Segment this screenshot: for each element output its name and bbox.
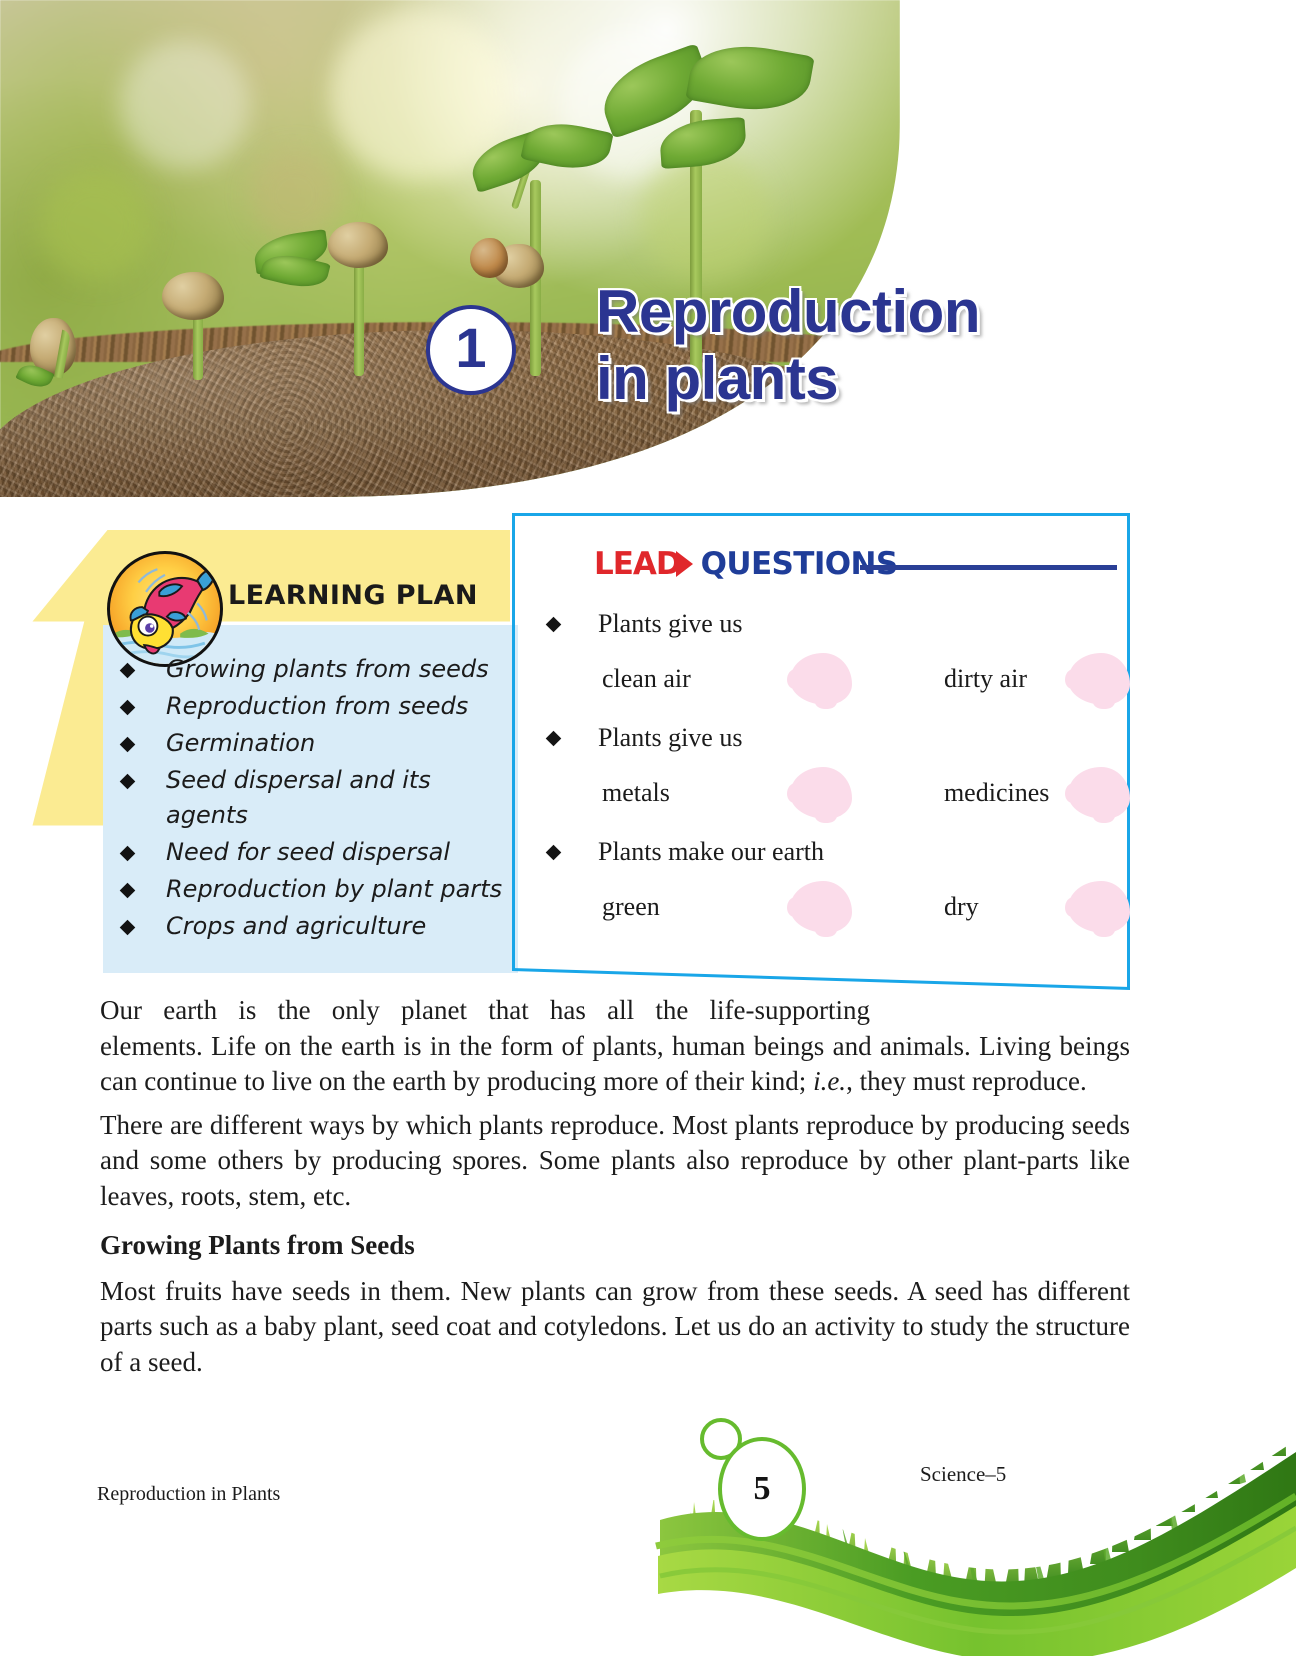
option-a-label: clean air [602, 664, 790, 694]
chapter-title-line-2: in plants [596, 345, 980, 412]
lead-question-item: Plants make our earth green dry [536, 833, 1130, 943]
paragraph-2: There are different ways by which plants… [100, 1108, 1130, 1215]
question-options-row: metals medicines [536, 757, 1130, 829]
answer-bubble-icon[interactable] [790, 653, 852, 705]
page-number-badge: 5 [718, 1437, 806, 1541]
section-heading: Growing Plants from Seeds [100, 1228, 1130, 1264]
diamond-bullet-icon [120, 737, 136, 753]
logo-underline-rule [860, 565, 1117, 570]
panel-border-top [512, 513, 1130, 516]
arrow-right-icon [676, 551, 693, 577]
option-b-label: dirty air [944, 664, 1068, 694]
list-item-label: Growing plants from seeds [166, 655, 489, 683]
diamond-bullet-icon [546, 845, 562, 861]
learning-plan-list: Growing plants from seeds Reproduction f… [118, 652, 518, 946]
list-item-label: Crops and agriculture [166, 912, 426, 940]
panel-border-bottom [512, 968, 1130, 990]
diamond-bullet-icon [546, 617, 562, 633]
chapter-hero-image [0, 0, 900, 498]
paragraph-1-first-line: Our earth is the only planet that has al… [100, 993, 870, 1029]
footer-subject-label: Science–5 [920, 1462, 1006, 1487]
list-item: Germination [118, 726, 518, 761]
answer-bubble-icon[interactable] [790, 881, 852, 933]
lead-questions-panel: LEAD QUESTIONS Plants give us clean air … [512, 513, 1130, 987]
list-item: Crops and agriculture [118, 909, 518, 944]
question-text-row: Plants make our earth [536, 833, 1130, 871]
textbook-page: 1 Reproduction in plants [0, 0, 1296, 1656]
lead-questions-list: Plants give us clean air dirty air Plant… [536, 605, 1130, 947]
logo-lead-text: LEAD [594, 549, 681, 580]
question-text-row: Plants give us [536, 605, 1130, 643]
list-item-label: Seed dispersal and its agents [166, 766, 431, 829]
question-text: Plants make our earth [598, 837, 824, 866]
question-text: Plants give us [598, 723, 742, 752]
diamond-bullet-icon [120, 663, 136, 679]
option-b-label: medicines [944, 778, 1068, 808]
question-options-row: green dry [536, 871, 1130, 943]
diamond-bullet-icon [120, 700, 136, 716]
question-text: Plants give us [598, 609, 742, 638]
page-number: 5 [754, 1470, 771, 1508]
diamond-bullet-icon [120, 883, 136, 899]
list-item-label: Reproduction by plant parts [166, 875, 502, 903]
green-grass-wave-icon [600, 1380, 1296, 1656]
list-item-label: Need for seed dispersal [166, 838, 450, 866]
list-item: Need for seed dispersal [118, 835, 518, 870]
footer-chapter-caption: Reproduction in Plants [97, 1483, 280, 1506]
hero-clip [0, 0, 900, 498]
lead-questions-logo: LEAD QUESTIONS [594, 544, 898, 584]
paragraph-3: Most fruits have seeds in them. New plan… [100, 1274, 1130, 1381]
list-item: Reproduction from seeds [118, 689, 518, 724]
list-item-label: Reproduction from seeds [166, 692, 468, 720]
lead-question-item: Plants give us metals medicines [536, 719, 1130, 829]
answer-bubble-icon[interactable] [1068, 767, 1130, 819]
diamond-bullet-icon [546, 731, 562, 747]
lead-question-item: Plants give us clean air dirty air [536, 605, 1130, 715]
option-a-label: green [602, 892, 790, 922]
chapter-number-badge: 1 [426, 305, 516, 395]
chapter-number: 1 [455, 320, 486, 376]
article-body: Our earth is the only planet that has al… [100, 993, 1130, 1388]
answer-bubble-icon[interactable] [1068, 881, 1130, 933]
list-item: Reproduction by plant parts [118, 872, 518, 907]
list-item-label: Germination [166, 729, 315, 757]
paragraph-1-tail: , they must reproduce. [846, 1066, 1087, 1096]
option-b-label: dry [944, 892, 1068, 922]
chapter-title-line-1: Reproduction [596, 278, 980, 345]
diamond-bullet-icon [120, 920, 136, 936]
question-text-row: Plants give us [536, 719, 1130, 757]
jumping-fish-icon [107, 551, 223, 667]
option-a-label: metals [602, 778, 790, 808]
paragraph-1: Our earth is the only planet that has al… [100, 993, 1130, 1100]
answer-bubble-icon[interactable] [1068, 653, 1130, 705]
list-item: Seed dispersal and its agents [118, 763, 518, 833]
diamond-bullet-icon [120, 846, 136, 862]
page-title: Reproduction in plants [596, 278, 980, 412]
question-options-row: clean air dirty air [536, 643, 1130, 715]
paragraph-1-italic: i.e. [813, 1066, 846, 1096]
list-item: Growing plants from seeds [118, 652, 518, 687]
answer-bubble-icon[interactable] [790, 767, 852, 819]
logo-questions-text: QUESTIONS [701, 549, 898, 580]
learning-plan-heading: LEARNING PLAN [228, 580, 478, 611]
diamond-bullet-icon [120, 774, 136, 790]
